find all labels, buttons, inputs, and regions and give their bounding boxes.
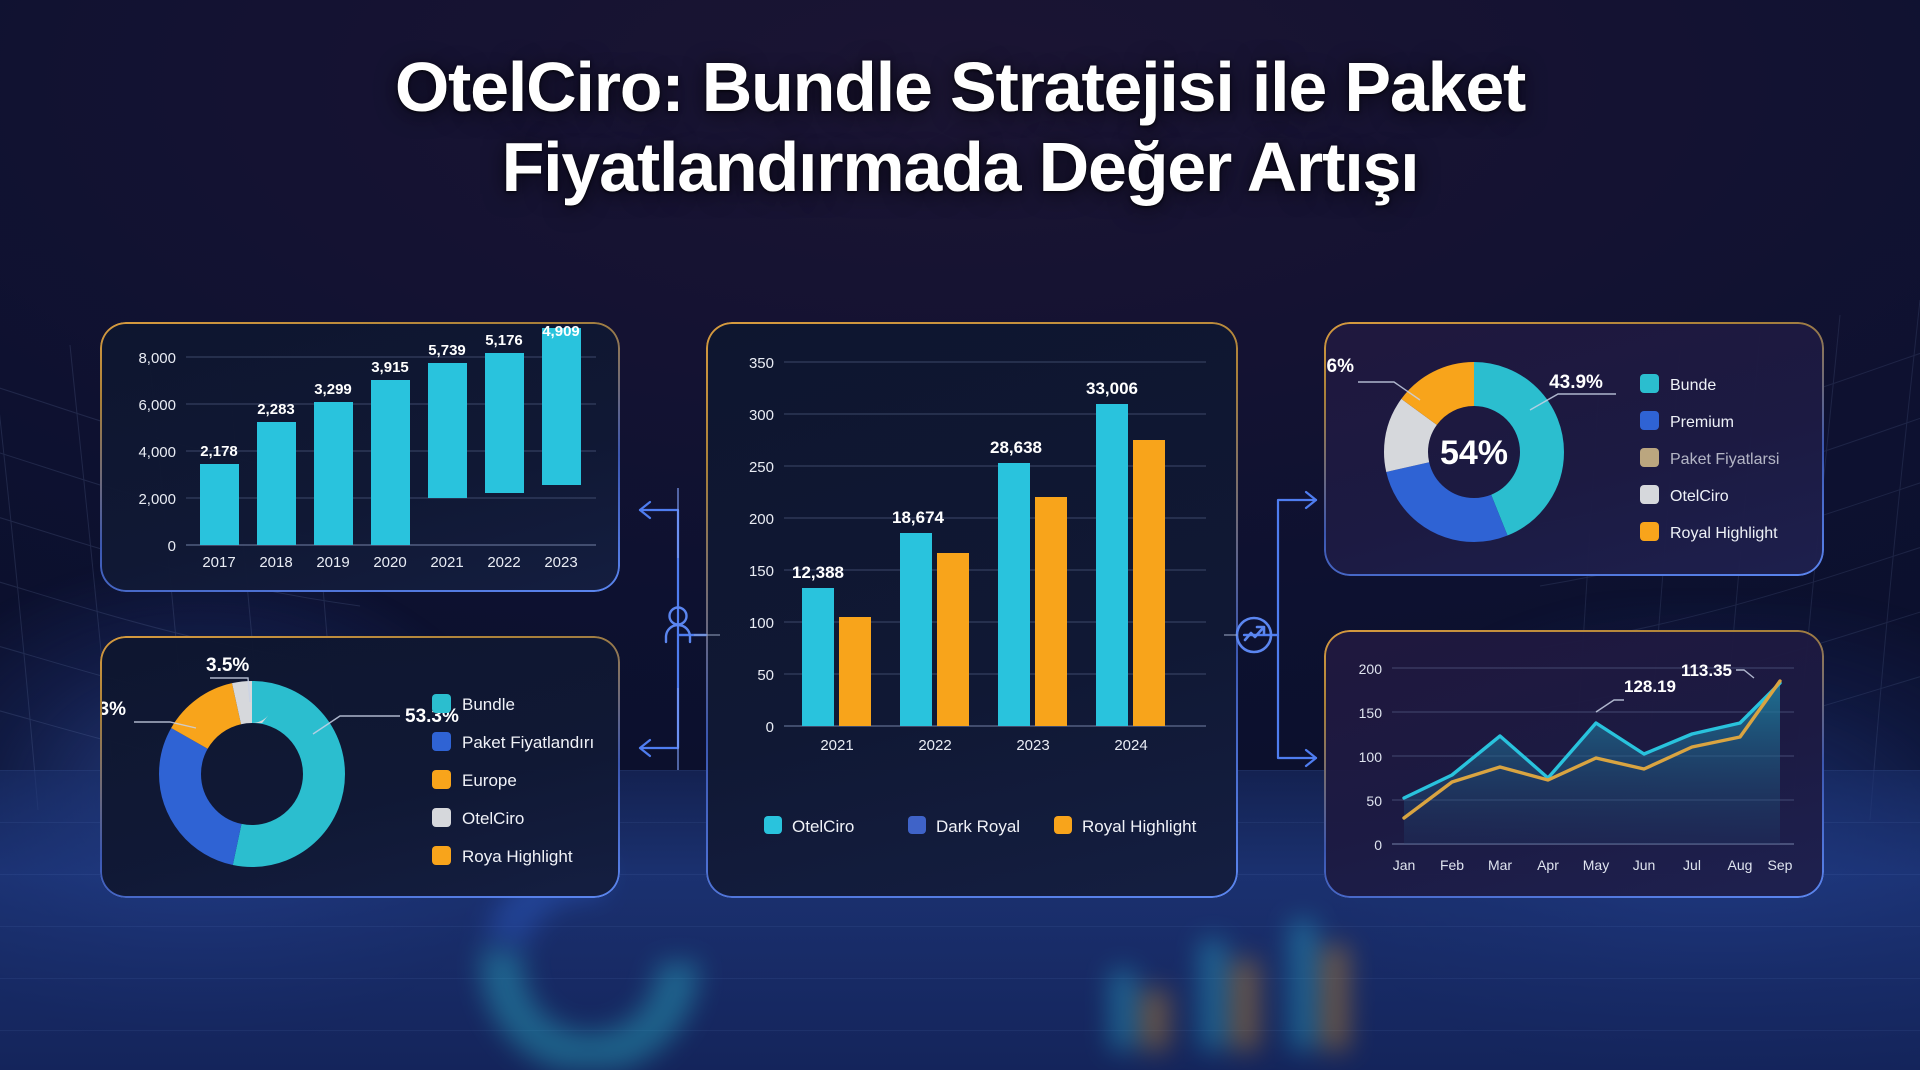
title-line-2: Fiyatlandırmada Değer Artışı bbox=[120, 128, 1800, 208]
bar-2024-royal bbox=[1133, 440, 1165, 726]
panel-donut-left[interactable]: 53.3% 13.3% 3.5% Bundle Paket Fiyatlandı… bbox=[100, 636, 620, 898]
svg-text:OtelCiro: OtelCiro bbox=[1670, 488, 1729, 505]
svg-text:Bundle: Bundle bbox=[462, 695, 515, 714]
legend-swatch-paket bbox=[432, 732, 451, 751]
svg-text:18,674: 18,674 bbox=[892, 508, 945, 527]
legend-swatch-paket-fiyatlarsi bbox=[1640, 448, 1659, 467]
svg-text:Europe: Europe bbox=[462, 771, 517, 790]
svg-text:150: 150 bbox=[1359, 705, 1383, 721]
svg-text:2,000: 2,000 bbox=[138, 491, 176, 508]
svg-text:0: 0 bbox=[168, 538, 176, 555]
svg-text:Premium: Premium bbox=[1670, 414, 1734, 431]
y-axis-labels: 8,000 6,000 4,000 2,000 0 bbox=[138, 350, 176, 555]
area-fill bbox=[1404, 683, 1780, 844]
svg-text:250: 250 bbox=[749, 459, 774, 476]
svg-text:28,638: 28,638 bbox=[990, 438, 1042, 457]
svg-text:May: May bbox=[1583, 857, 1609, 873]
title-line-1: OtelCiro: Bundle Stratejisi ile Paket bbox=[395, 48, 1525, 126]
legend-swatch-dark-royal bbox=[908, 816, 926, 834]
legend-swatch-royal-highlight bbox=[1054, 816, 1072, 834]
svg-text:33,006: 33,006 bbox=[1086, 379, 1138, 398]
svg-text:100: 100 bbox=[749, 615, 774, 632]
svg-text:8,000: 8,000 bbox=[138, 350, 176, 367]
svg-text:2,283: 2,283 bbox=[257, 401, 295, 418]
svg-text:200: 200 bbox=[749, 511, 774, 528]
svg-text:100: 100 bbox=[1359, 749, 1383, 765]
svg-text:2020: 2020 bbox=[373, 554, 406, 571]
y-axis-labels: 200 150 100 50 0 bbox=[1359, 661, 1383, 853]
panel-bar-chart-center[interactable]: 350 300 250 200 150 100 50 0 bbox=[706, 322, 1238, 898]
bar-2020 bbox=[371, 380, 410, 545]
svg-text:2018: 2018 bbox=[259, 554, 292, 571]
svg-text:4,909: 4,909 bbox=[542, 323, 580, 340]
panel-line-chart-right[interactable]: 200 150 100 50 0 128.19 113.35 Jan Feb M… bbox=[1324, 630, 1824, 898]
svg-text:200: 200 bbox=[1359, 661, 1383, 677]
svg-text:4,000: 4,000 bbox=[138, 444, 176, 461]
legend-swatch-premium bbox=[1640, 411, 1659, 430]
svg-text:2,178: 2,178 bbox=[200, 443, 238, 460]
svg-text:Mar: Mar bbox=[1488, 857, 1512, 873]
legend-swatch-otelciro bbox=[432, 808, 451, 827]
legend-swatch-europe bbox=[432, 770, 451, 789]
svg-text:5,739: 5,739 bbox=[428, 342, 466, 359]
svg-text:50: 50 bbox=[1366, 793, 1382, 809]
svg-text:Jun: Jun bbox=[1633, 857, 1656, 873]
svg-text:13.3%: 13.3% bbox=[100, 699, 126, 720]
bar-2021-royal bbox=[839, 617, 871, 726]
bar-2018 bbox=[257, 422, 296, 545]
legend-swatch-roya-highlight bbox=[432, 846, 451, 865]
svg-text:OtelCiro: OtelCiro bbox=[792, 817, 854, 836]
svg-text:Paket Fiyatlandırı: Paket Fiyatlandırı bbox=[462, 733, 594, 752]
svg-text:113.35: 113.35 bbox=[1681, 661, 1732, 680]
chart-donut-left: 53.3% 13.3% 3.5% Bundle Paket Fiyatlandı… bbox=[100, 636, 620, 898]
x-axis-labels: Jan Feb Mar Apr May Jun Jul Aug Sep bbox=[1393, 857, 1793, 873]
bar-value-labels: 12,388 18,674 28,638 33,006 bbox=[792, 379, 1138, 582]
svg-text:Feb: Feb bbox=[1440, 857, 1464, 873]
bar-2023 bbox=[542, 328, 581, 485]
donut-slices: 54% bbox=[1406, 384, 1542, 520]
svg-text:2022: 2022 bbox=[918, 737, 951, 754]
svg-text:Royal Highlight: Royal Highlight bbox=[1670, 525, 1778, 542]
bar-2022-royal bbox=[937, 553, 969, 726]
svg-text:13.6%: 13.6% bbox=[1324, 356, 1354, 377]
bar-2023-otelciro bbox=[998, 463, 1030, 726]
chart-line-right: 200 150 100 50 0 128.19 113.35 Jan Feb M… bbox=[1324, 630, 1824, 898]
svg-text:Paket Fiyatlarsi: Paket Fiyatlarsi bbox=[1670, 451, 1779, 468]
svg-text:3,299: 3,299 bbox=[314, 381, 352, 398]
panel-donut-right[interactable]: 54% 43.9% 13.6% Bunde Premium Paket Fiya… bbox=[1324, 322, 1824, 576]
svg-text:2023: 2023 bbox=[1016, 737, 1049, 754]
svg-text:Bunde: Bunde bbox=[1670, 377, 1716, 394]
svg-text:12,388: 12,388 bbox=[792, 563, 844, 582]
legend-swatch-otelciro bbox=[764, 816, 782, 834]
bar-2021 bbox=[428, 363, 467, 498]
svg-text:3,915: 3,915 bbox=[371, 359, 409, 376]
svg-text:Roya Highlight: Roya Highlight bbox=[462, 847, 573, 866]
donut-slices bbox=[180, 702, 324, 846]
svg-text:OtelCiro: OtelCiro bbox=[462, 809, 524, 828]
legend-swatch-bunde bbox=[1640, 374, 1659, 393]
legend-swatch-bundle bbox=[432, 694, 451, 713]
annotations: 128.19 113.35 bbox=[1596, 661, 1754, 712]
svg-text:Aug: Aug bbox=[1728, 857, 1753, 873]
svg-text:6,000: 6,000 bbox=[138, 397, 176, 414]
svg-text:Jan: Jan bbox=[1393, 857, 1416, 873]
donut-legend: Bunde Premium Paket Fiyatlarsi OtelCiro … bbox=[1640, 374, 1779, 542]
chart-bars-left: 8,000 6,000 4,000 2,000 0 2,178 2,283 3,… bbox=[100, 322, 620, 592]
x-axis-labels: 2021 2022 2023 2024 bbox=[820, 737, 1147, 754]
bar-2021-otelciro bbox=[802, 588, 834, 726]
bar-2023-royal bbox=[1035, 497, 1067, 726]
svg-text:0: 0 bbox=[766, 719, 774, 736]
svg-text:350: 350 bbox=[749, 355, 774, 372]
svg-text:50: 50 bbox=[757, 667, 774, 684]
svg-text:2023: 2023 bbox=[544, 554, 577, 571]
svg-text:3.5%: 3.5% bbox=[206, 655, 249, 676]
svg-text:Dark Royal: Dark Royal bbox=[936, 817, 1020, 836]
svg-text:43.9%: 43.9% bbox=[1549, 372, 1603, 393]
svg-text:2021: 2021 bbox=[820, 737, 853, 754]
svg-text:0: 0 bbox=[1374, 837, 1382, 853]
svg-text:128.19: 128.19 bbox=[1624, 677, 1676, 696]
page-title: OtelCiro: Bundle Stratejisi ile Paket Fi… bbox=[0, 48, 1920, 208]
bar-2017 bbox=[200, 464, 239, 545]
y-axis-labels: 350 300 250 200 150 100 50 0 bbox=[749, 355, 774, 736]
svg-text:2019: 2019 bbox=[316, 554, 349, 571]
svg-text:Royal Highlight: Royal Highlight bbox=[1082, 817, 1197, 836]
svg-text:300: 300 bbox=[749, 407, 774, 424]
bar-2022-otelciro bbox=[900, 533, 932, 726]
svg-text:2024: 2024 bbox=[1114, 737, 1147, 754]
bars-group bbox=[802, 404, 1165, 726]
chart-bars-center: 350 300 250 200 150 100 50 0 bbox=[706, 322, 1238, 898]
svg-text:Jul: Jul bbox=[1683, 857, 1701, 873]
panel-bar-chart-left[interactable]: 8,000 6,000 4,000 2,000 0 2,178 2,283 3,… bbox=[100, 322, 620, 592]
svg-text:2022: 2022 bbox=[487, 554, 520, 571]
bar-2022 bbox=[485, 353, 524, 493]
svg-text:5,176: 5,176 bbox=[485, 332, 523, 349]
svg-text:150: 150 bbox=[749, 563, 774, 580]
bar-2024-otelciro bbox=[1096, 404, 1128, 726]
svg-text:Sep: Sep bbox=[1768, 857, 1793, 873]
svg-text:2017: 2017 bbox=[202, 554, 235, 571]
legend-swatch-royal-highlight bbox=[1640, 522, 1659, 541]
legend-swatch-otelciro bbox=[1640, 485, 1659, 504]
donut-center-label: 54% bbox=[1440, 434, 1508, 472]
chart-donut-right: 54% 43.9% 13.6% Bunde Premium Paket Fiya… bbox=[1324, 322, 1824, 576]
chart-legend: OtelCiro Dark Royal Royal Highlight bbox=[764, 816, 1197, 836]
svg-text:2021: 2021 bbox=[430, 554, 463, 571]
x-axis-labels: 2017 2018 2019 2020 2021 2022 2023 bbox=[202, 554, 577, 571]
svg-text:Apr: Apr bbox=[1537, 857, 1559, 873]
bar-2019 bbox=[314, 402, 353, 545]
infographic-stage: OtelCiro: Bundle Stratejisi ile Paket Fi… bbox=[0, 0, 1920, 1070]
